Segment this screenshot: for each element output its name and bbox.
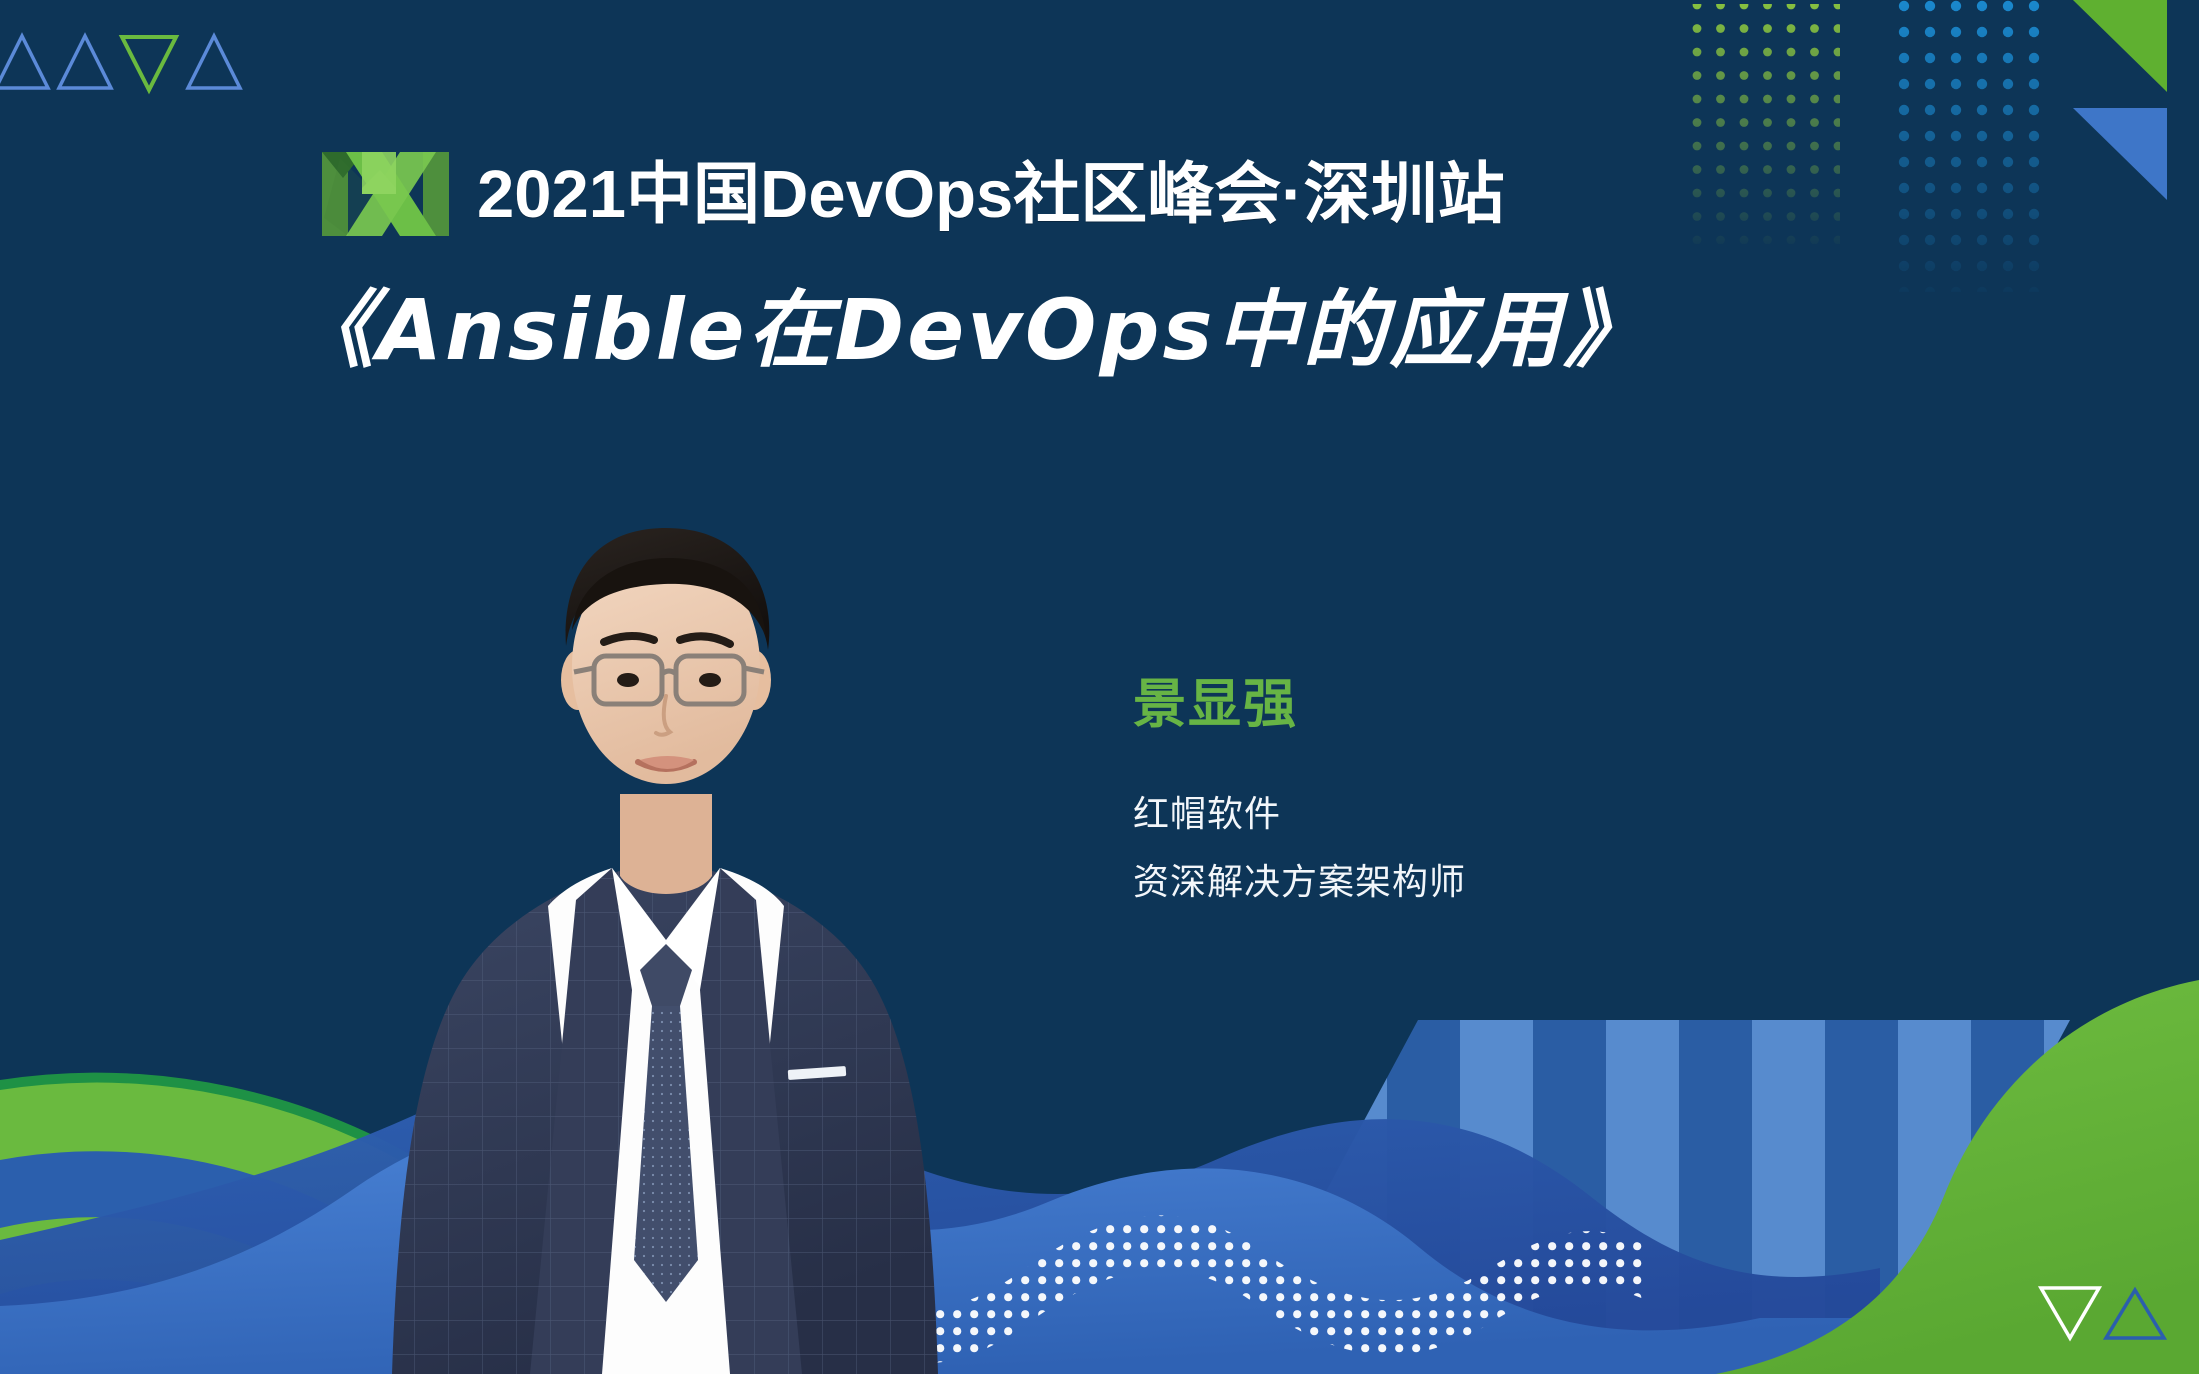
- talk-close-quote: 》: [1564, 288, 1651, 372]
- page-title: 2021中国DevOps社区峰会·深圳站: [477, 161, 1505, 228]
- dot-grid-green: [1692, 4, 1840, 244]
- triangle-down-green: [122, 37, 176, 90]
- triangle-up-blue-2: [59, 36, 111, 88]
- talk-title-part2: 中的应用: [1216, 288, 1564, 372]
- triangle-down-white: [2041, 1288, 2099, 1338]
- talk-title-part1: Ansible在: [377, 288, 835, 372]
- triangle-up-blue-3: [188, 36, 240, 88]
- event-title-row: 2021中国DevOps社区峰会·深圳站: [318, 148, 1505, 240]
- speaker-company: 红帽软件: [1133, 786, 1466, 842]
- talk-title: 《 Ansible在 DevOps 中的应用 》: [290, 288, 1651, 372]
- dot-grid-blue: [1888, 0, 2048, 292]
- talk-title-highlight: DevOps: [835, 288, 1216, 372]
- bottom-right-triangle-row: [2033, 1276, 2173, 1348]
- devops-community-x-logo: [318, 148, 453, 240]
- triangle-up-blue: [2106, 1290, 2164, 1338]
- speaker-portrait: [380, 470, 950, 1374]
- speaker-role: 资深解决方案架构师: [1133, 854, 1466, 910]
- speaker-name: 景显强: [1133, 676, 1466, 734]
- talk-open-quote: 《: [290, 288, 377, 372]
- speaker-block: 景显强 红帽软件 资深解决方案架构师: [1133, 676, 1466, 922]
- triangle-up-blue-1: [0, 36, 48, 88]
- slide-canvas: 2021中国DevOps社区峰会·深圳站 《 Ansible在 DevOps 中…: [0, 0, 2199, 1374]
- top-left-triangle-row: [0, 30, 262, 100]
